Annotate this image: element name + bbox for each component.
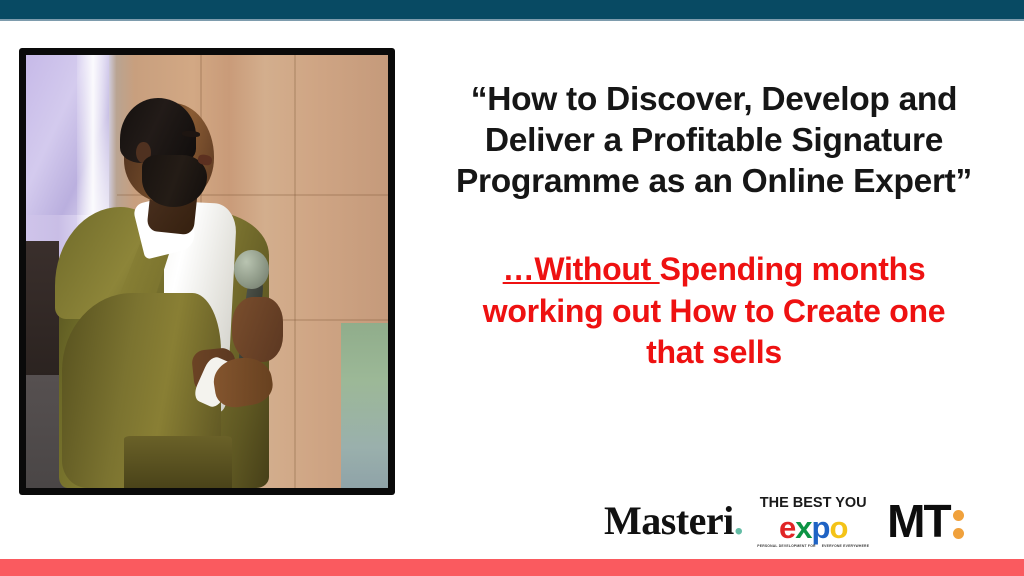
expo-logo-wordmark: expo — [779, 512, 847, 543]
expo-logo-tagline: PERSONAL DEVELOPMENT FOREVERYONE EVERYWH… — [757, 544, 869, 548]
logo-strip: Masteri. THE BEST YOU expo PERSONAL DEVE… — [604, 490, 1024, 552]
expo-letter-p: p — [812, 510, 830, 545]
subheadline-line-1-rest: Spending months — [660, 251, 926, 287]
expo-letter-e: e — [779, 510, 795, 545]
speaker-figure — [26, 55, 388, 488]
headline-line-3: Programme as an Online Expert” — [408, 162, 1020, 203]
headline-line-2: Deliver a Profitable Signature — [408, 121, 1020, 162]
expo-logo-top-line: THE BEST YOU — [760, 496, 867, 511]
masteri-logo-text: Masteri — [604, 498, 734, 543]
top-accent-bar — [0, 0, 1024, 21]
masteri-logo: Masteri. — [604, 501, 743, 541]
slide-canvas: “How to Discover, Develop and Deliver a … — [0, 0, 1024, 576]
expo-tagline-right: EVERYONE EVERYWHERE — [822, 544, 869, 548]
speaker-photo-frame — [19, 48, 395, 495]
mt-colon-dot-bottom — [953, 528, 964, 539]
expo-letter-o: o — [829, 510, 847, 545]
headline-line-1: “How to Discover, Develop and — [408, 80, 1020, 121]
expo-letter-x: x — [795, 510, 811, 545]
mt-logo: MT — [887, 498, 963, 544]
masteri-logo-dot: . — [734, 498, 744, 543]
bottom-accent-bar — [0, 559, 1024, 576]
subheadline-underlined-text: …Without — [503, 251, 660, 287]
subheadline: …Without Spending months working out How… — [408, 249, 1020, 374]
speaker-hand-holding-mic — [232, 297, 283, 362]
subheadline-line-2: working out How to Create one — [408, 291, 1020, 333]
subheadline-line-1: …Without Spending months — [408, 249, 1020, 291]
microphone-head-icon — [234, 250, 268, 289]
subheadline-line-3: that sells — [408, 332, 1020, 374]
mt-colon-dot-top — [953, 510, 964, 521]
mt-logo-colon-icon — [953, 504, 964, 539]
speaker-trousers — [124, 436, 233, 488]
best-you-expo-logo: THE BEST YOU expo PERSONAL DEVELOPMENT F… — [757, 494, 869, 548]
speaker-photo — [26, 55, 388, 488]
headline: “How to Discover, Develop and Deliver a … — [408, 80, 1020, 203]
expo-tagline-left: PERSONAL DEVELOPMENT FOR — [757, 544, 815, 548]
mt-logo-text: MT — [887, 498, 949, 544]
speaker-beard — [142, 155, 207, 207]
